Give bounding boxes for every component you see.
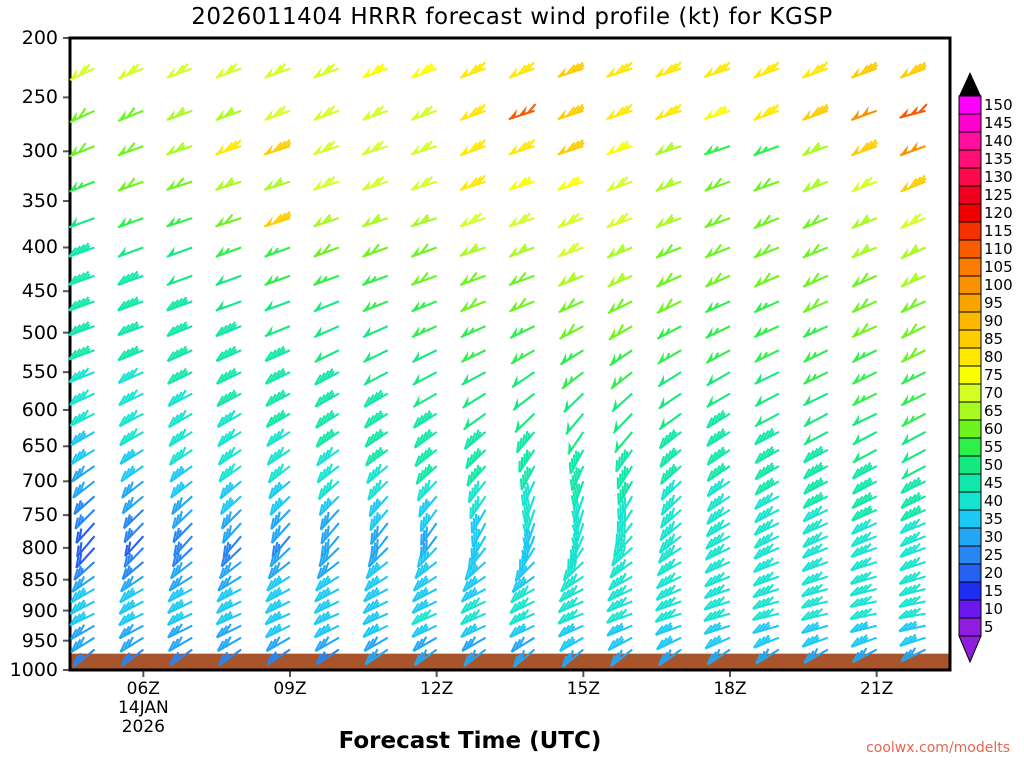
colorbar-tick-label: 15 — [984, 582, 1003, 600]
colorbar-under-arrow-icon — [959, 636, 981, 662]
y-tick-label: 550 — [0, 361, 58, 383]
colorbar-tick-label: 125 — [984, 186, 1013, 204]
colorbar — [959, 72, 981, 662]
x-tick-label: 18Z — [713, 680, 746, 699]
colorbar-tick-label: 70 — [984, 384, 1003, 402]
watermark-credit: coolwx.com/modelts — [866, 740, 1010, 756]
y-tick-label: 350 — [0, 190, 58, 212]
colorbar-tick-label: 110 — [984, 240, 1013, 258]
colorbar-tick-label: 100 — [984, 276, 1013, 294]
x-axis-title: Forecast Time (UTC) — [120, 728, 820, 754]
y-tick-label: 600 — [0, 399, 58, 421]
y-tick-label: 1000 — [0, 659, 58, 681]
colorbar-tick-label: 80 — [984, 348, 1003, 366]
wind-profile-chart: 2026011404 HRRR forecast wind profile (k… — [0, 0, 1024, 768]
colorbar-tick-label: 10 — [984, 600, 1003, 618]
colorbar-tick-label: 85 — [984, 330, 1003, 348]
colorbar-tick-label: 35 — [984, 510, 1003, 528]
colorbar-tick-label: 95 — [984, 294, 1003, 312]
colorbar-tick-label: 65 — [984, 402, 1003, 420]
colorbar-tick-label: 130 — [984, 168, 1013, 186]
x-tick-label: 12Z — [420, 680, 453, 699]
colorbar-tick-label: 135 — [984, 150, 1013, 168]
colorbar-tick-label: 30 — [984, 528, 1003, 546]
colorbar-tick-label: 145 — [984, 114, 1013, 132]
colorbar-tick-label: 55 — [984, 438, 1003, 456]
colorbar-tick-label: 105 — [984, 258, 1013, 276]
y-tick-label: 400 — [0, 236, 58, 258]
colorbar-tick-label: 25 — [984, 546, 1003, 564]
y-tick-label: 650 — [0, 435, 58, 457]
x-tick-label: 09Z — [273, 680, 306, 699]
y-tick-label: 800 — [0, 537, 58, 559]
y-tick-label: 750 — [0, 504, 58, 526]
colorbar-tick-label: 150 — [984, 96, 1013, 114]
colorbar-tick-label: 120 — [984, 204, 1013, 222]
y-tick-label: 250 — [0, 86, 58, 108]
y-tick-label: 700 — [0, 470, 58, 492]
colorbar-tick-label: 5 — [984, 618, 994, 636]
y-tick-label: 850 — [0, 569, 58, 591]
y-tick-label: 450 — [0, 280, 58, 302]
colorbar-tick-label: 90 — [984, 312, 1003, 330]
y-tick-label: 200 — [0, 27, 58, 49]
colorbar-tick-label: 115 — [984, 222, 1013, 240]
y-tick-label: 900 — [0, 600, 58, 622]
colorbar-tick-label: 40 — [984, 492, 1003, 510]
plot-canvas — [0, 0, 1024, 768]
colorbar-tick-label: 60 — [984, 420, 1003, 438]
colorbar-tick-label: 45 — [984, 474, 1003, 492]
colorbar-tick-label: 140 — [984, 132, 1013, 150]
y-tick-label: 300 — [0, 140, 58, 162]
colorbar-over-arrow-icon — [959, 72, 981, 96]
colorbar-tick-label: 50 — [984, 456, 1003, 474]
colorbar-tick-label: 75 — [984, 366, 1003, 384]
y-tick-label: 500 — [0, 322, 58, 344]
colorbar-tick-label: 20 — [984, 564, 1003, 582]
x-tick-label: 15Z — [567, 680, 600, 699]
x-tick-label: 21Z — [860, 680, 893, 699]
y-tick-label: 950 — [0, 630, 58, 652]
